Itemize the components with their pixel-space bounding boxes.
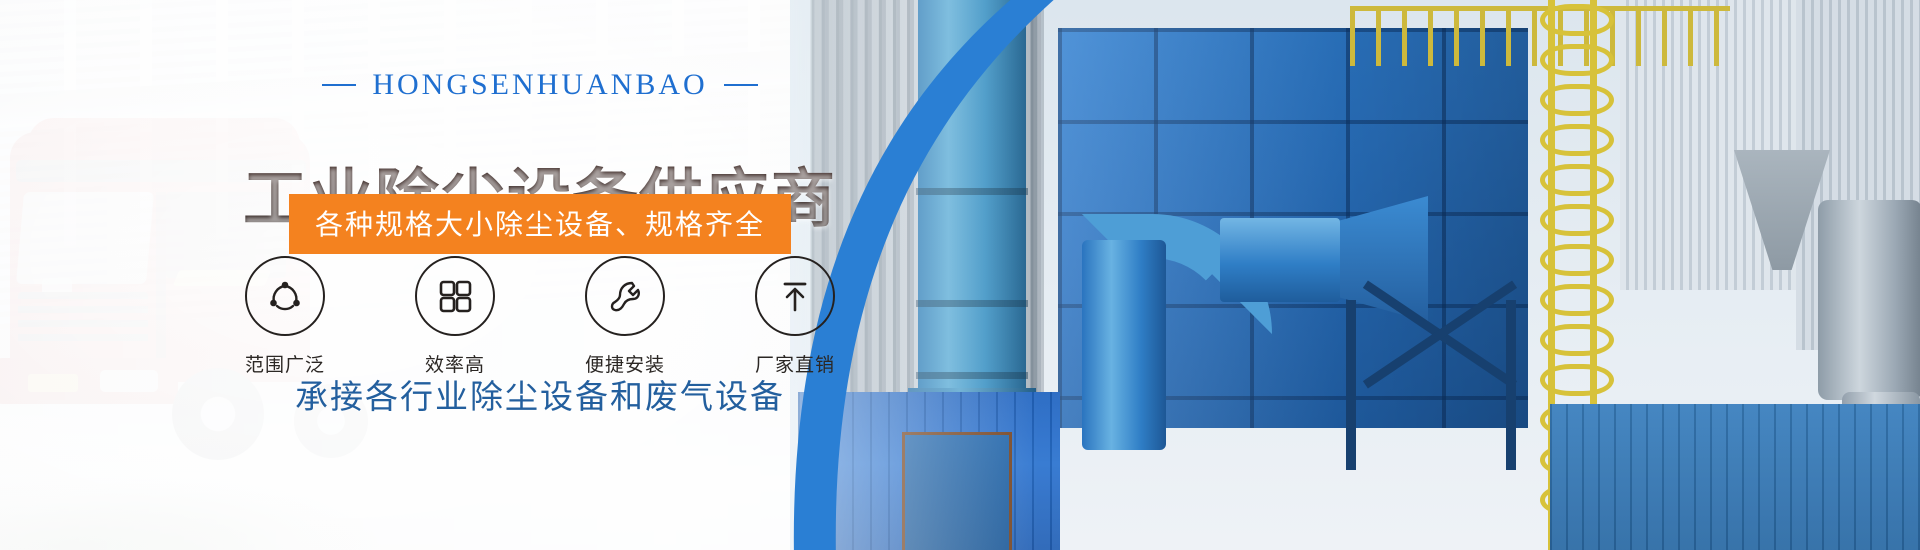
tagline: 承接各行业除尘设备和废气设备 — [0, 370, 1080, 418]
feature-icon-circle — [245, 256, 325, 336]
wrench-icon — [605, 276, 645, 316]
eyebrow-line: HONGSENHUANBAO — [0, 66, 1080, 102]
hero-content: HONGSENHUANBAO 工业除尘设备供应商 各种规格大小除尘设备、规格齐全… — [0, 0, 1080, 550]
eyebrow-dash-right — [724, 84, 758, 86]
subtitle-ribbon: 各种规格大小除尘设备、规格齐全 — [289, 194, 791, 254]
feature-icon-circle — [415, 256, 495, 336]
eyebrow-dash-left — [322, 84, 356, 86]
feature-icon-circle — [755, 256, 835, 336]
feature-item-range[interactable]: 范围广泛 — [230, 256, 340, 377]
hero-banner: HONGSENHUANBAO 工业除尘设备供应商 各种规格大小除尘设备、规格齐全… — [0, 0, 1920, 550]
eyebrow-text: HONGSENHUANBAO — [372, 68, 707, 102]
feature-list: 范围广泛 效率高 — [0, 256, 1080, 377]
grid-squares-icon — [436, 277, 474, 315]
feature-item-efficiency[interactable]: 效率高 — [400, 256, 510, 377]
feature-icon-circle — [585, 256, 665, 336]
feature-item-direct-sale[interactable]: 厂家直销 — [740, 256, 850, 377]
arrow-up-to-line-icon — [776, 277, 814, 315]
share-network-icon — [265, 276, 305, 316]
feature-item-install[interactable]: 便捷安装 — [570, 256, 680, 377]
